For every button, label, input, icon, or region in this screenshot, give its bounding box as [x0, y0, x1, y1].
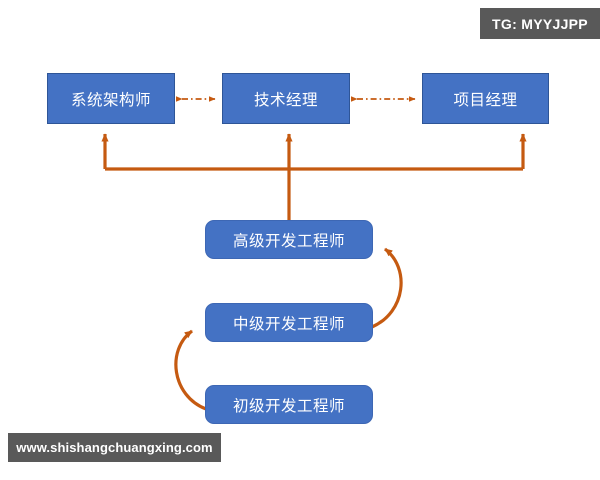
role-box-technical-manager[interactable]: 技术经理: [222, 73, 350, 124]
tg-badge: TG: MYYJJPP: [480, 8, 600, 39]
promotion-tree: [105, 134, 523, 220]
level-box-intermediate-engineer[interactable]: 中级开发工程师: [205, 303, 373, 342]
level-box-label: 高级开发工程师: [233, 229, 345, 251]
watermark: www.shishangchuangxing.com: [8, 433, 221, 462]
progression-arc-junior-to-mid: [176, 331, 206, 409]
level-box-label: 中级开发工程师: [233, 312, 345, 334]
role-box-system-architect[interactable]: 系统架构师: [47, 73, 175, 124]
level-box-senior-engineer[interactable]: 高级开发工程师: [205, 220, 373, 259]
diagram-canvas: 系统架构师 技术经理 项目经理 高级开发工程师 中级开发工程师 初级开发工程师 …: [0, 0, 600, 480]
progression-arc-mid-to-senior: [372, 249, 401, 327]
role-box-project-manager[interactable]: 项目经理: [422, 73, 549, 124]
role-box-label: 系统架构师: [71, 88, 151, 110]
role-box-label: 技术经理: [254, 88, 318, 110]
level-box-junior-engineer[interactable]: 初级开发工程师: [205, 385, 373, 424]
level-box-label: 初级开发工程师: [233, 394, 345, 416]
role-box-label: 项目经理: [453, 88, 517, 110]
